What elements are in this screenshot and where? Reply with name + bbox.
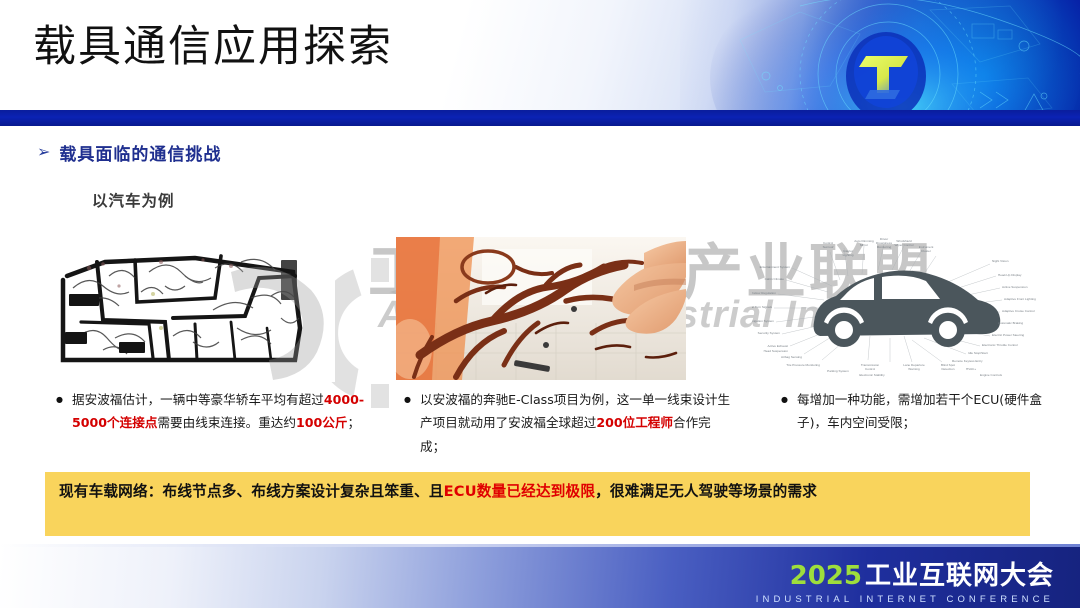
conference-name-en: INDUSTRIAL INTERNET CONFERENCE [756, 594, 1054, 605]
conference-name-cn: 工业互联网大会 [865, 555, 1054, 592]
bullet-item: 据安波福估计，一辆中等豪华轿车平均有超过4000-5000个连接点需要由线束连接… [56, 388, 376, 435]
bullet-text-part: 每增加一种功能，需增加若干个ECU(硬件盒子)，车内空间受限； [797, 392, 1042, 430]
page-title: 载具通信应用探索 [33, 24, 393, 71]
bullet-highlight: 100公斤 [296, 415, 347, 430]
presentation-slide: 载具通信应用探索 ➢ 载具面临的通信挑战 以汽车为例 工业互联网产业联盟 All… [0, 0, 1080, 608]
svg-text:Navigation System: Navigation System [752, 319, 774, 323]
conference-logo-main: 2025 工业互联网大会 [756, 555, 1054, 592]
svg-text:Wiper Control: Wiper Control [895, 243, 914, 247]
svg-text:Adaptive Cruise Control: Adaptive Cruise Control [1002, 309, 1035, 313]
svg-text:Warning: Warning [908, 367, 920, 371]
svg-text:Remote Keyless Entry: Remote Keyless Entry [952, 359, 983, 363]
conference-year: 2025 [790, 561, 862, 591]
svg-text:Cluster: Cluster [921, 249, 931, 253]
svg-text:Tire Pressure Monitoring: Tire Pressure Monitoring [786, 363, 820, 367]
svg-text:Head-Up Display: Head-Up Display [998, 273, 1022, 277]
svg-text:Control: Control [823, 241, 833, 245]
header-circuit-art-svg [680, 0, 1080, 126]
car-ecu-functions-diagram: Entertainment System Cabin Climate Windo… [752, 230, 1052, 380]
svg-text:Active Exhaust: Active Exhaust [768, 344, 789, 348]
conference-logo: 2025 工业互联网大会 INDUSTRIAL INTERNET CONFERE… [756, 555, 1054, 605]
conclusion-highlight: ECU数量已经达到极限 [444, 483, 595, 500]
svg-text:Control: Control [865, 367, 875, 371]
svg-text:Security System: Security System [758, 331, 781, 335]
conclusion-text-part: 现有车载网络：布线节点多、布线方案设计复杂且笨重、且 [59, 483, 444, 500]
svg-text:Mirror: Mirror [860, 243, 868, 247]
bullet-text-part: 需要由线束连接。重达约 [157, 415, 296, 430]
bullet-column-3: 每增加一种功能，需增加若干个ECU(硬件盒子)，车内空间受限； [781, 388, 1061, 435]
conclusion-banner: 现有车载网络：布线节点多、布线方案设计复杂且笨重、且ECU数量已经达到极限，很难… [45, 472, 1030, 536]
sub-heading-label: 以汽车为例 [92, 189, 175, 211]
svg-text:Electric Power Steering: Electric Power Steering [992, 333, 1024, 337]
bullet-highlight: 200位工程师 [596, 415, 673, 430]
harness-photo-svg [396, 237, 686, 380]
svg-text:HVAC+: HVAC+ [966, 367, 976, 371]
bullet-text-part: 据安波福估计，一辆中等豪华轿车平均有超过 [72, 392, 324, 407]
svg-text:Window Regulation: Window Regulation [752, 291, 776, 295]
car-diagram-svg: Entertainment System Cabin Climate Windo… [752, 230, 1052, 380]
section-heading: ➢ 载具面临的通信挑战 [37, 140, 221, 165]
bullet-item: 以安波福的奔驰E-Class项目为例，这一单一线束设计生产项目就动用了安波福全球… [404, 388, 734, 458]
wiring-harness-layout-diagram [45, 232, 335, 382]
svg-text:Night Vision: Night Vision [992, 259, 1009, 263]
hands-assembling-wire-harness-photo [396, 237, 686, 380]
svg-text:Engine Controls: Engine Controls [980, 373, 1002, 377]
svg-text:Sunroof: Sunroof [823, 245, 834, 249]
section-heading-label: 载具面临的通信挑战 [59, 140, 221, 165]
svg-text:Digital Turn Signals: Digital Turn Signals [752, 305, 772, 309]
svg-text:Adaptive Front Lighting: Adaptive Front Lighting [1004, 297, 1036, 301]
arrow-bullet-icon: ➢ [37, 145, 50, 161]
svg-text:Electronic Throttle Control: Electronic Throttle Control [982, 343, 1018, 347]
slide-footer: 2025 工业互联网大会 INDUSTRIAL INTERNET CONFERE… [0, 544, 1080, 608]
svg-text:Detection: Detection [941, 367, 954, 371]
conclusion-text-part: ，很难满足无人驾驶等场景的需求 [595, 483, 817, 500]
bullet-item: 每增加一种功能，需增加若干个ECU(硬件盒子)，车内空间受限； [781, 388, 1061, 435]
bullet-text-part: ； [347, 415, 360, 430]
svg-text:Cabin Climate: Cabin Climate [765, 277, 785, 281]
svg-text:Parking System: Parking System [827, 369, 849, 373]
svg-text:Lighting: Lighting [843, 253, 854, 257]
svg-text:Airbag Sensing: Airbag Sensing [781, 355, 802, 359]
bullet-column-1: 据安波福估计，一辆中等豪华轿车平均有超过4000-5000个连接点需要由线束连接… [56, 388, 376, 435]
svg-text:Idle Stop/Start: Idle Stop/Start [968, 351, 988, 355]
header-tech-graphic [680, 0, 1080, 126]
svg-text:Active Suspension: Active Suspension [1002, 285, 1028, 289]
svg-text:Monitoring: Monitoring [877, 245, 892, 249]
svg-text:Electronic Stability: Electronic Stability [859, 373, 885, 377]
svg-text:Entertainment System: Entertainment System [760, 265, 791, 269]
svg-text:Automatic Braking: Automatic Braking [998, 321, 1023, 325]
harness-diagram-svg [45, 232, 335, 382]
title-underline-bar [0, 110, 1080, 126]
bullet-column-2: 以安波福的奔驰E-Class项目为例，这一单一线束设计生产项目就动用了安波福全球… [404, 388, 734, 458]
slide-header: 载具通信应用探索 [0, 0, 1080, 126]
svg-text:Head Suspension: Head Suspension [764, 349, 789, 353]
